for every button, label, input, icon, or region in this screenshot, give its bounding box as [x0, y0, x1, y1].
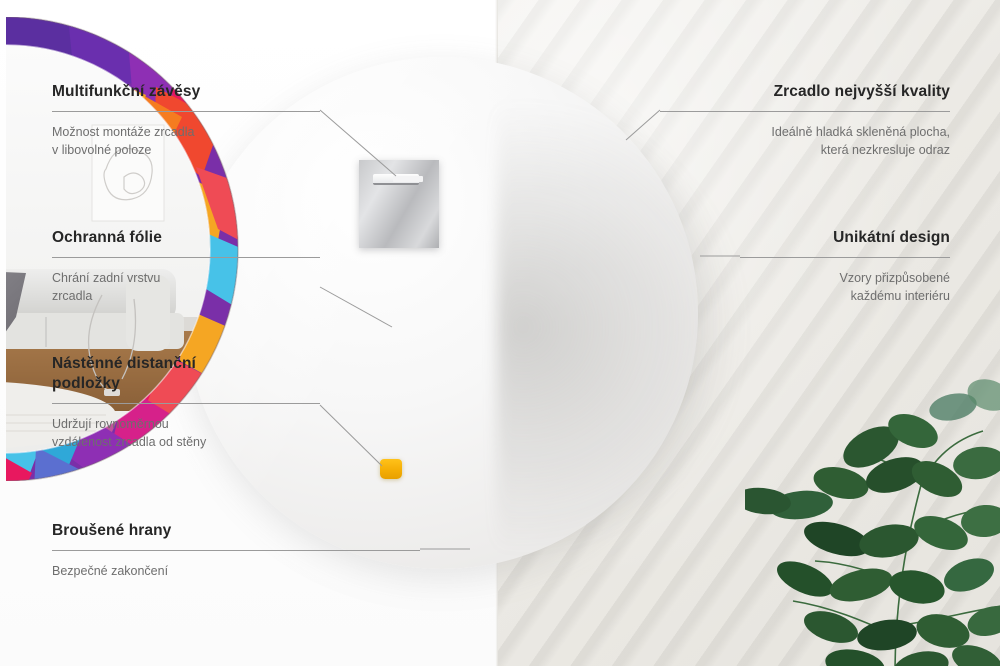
foliage-decoration — [745, 335, 1000, 666]
feature-title: Broušené hrany — [52, 521, 420, 541]
hanger-slot-inner — [393, 176, 423, 182]
hanger-plate — [359, 160, 439, 248]
feature-block-ochranna-folie: Ochranná fólie Chrání zadní vrstvu zrcad… — [52, 228, 320, 305]
feature-desc-line-2: která nezkresluje odraz — [821, 143, 950, 157]
infographic-canvas: Multifunkční závěsy Možnost montáže zrca… — [0, 0, 1000, 666]
feature-title: Nástěnné distanční podložky — [52, 354, 320, 394]
feature-block-brousene-hrany: Broušené hrany Bezpečné zakončení — [52, 521, 420, 580]
feature-description: Udržují rovnoměrnou vzdálenost zrcadla o… — [52, 415, 320, 451]
feature-rule — [660, 111, 950, 112]
mirror-drop-shadow — [497, 92, 757, 562]
feature-description: Chrání zadní vrstvu zrcadla — [52, 269, 320, 305]
feature-desc-line-1: Vzory přizpůsobené — [840, 271, 950, 285]
feature-desc-line-2: každému interiéru — [851, 289, 950, 303]
feature-title-line-1: Nástěnné distanční — [52, 355, 196, 372]
feature-title-line-2: podložky — [52, 375, 120, 392]
feature-description: Vzory přizpůsobené každému interiéru — [740, 269, 950, 305]
feature-rule — [52, 403, 320, 404]
feature-desc-line-2: v libovolné poloze — [52, 143, 151, 157]
feature-title: Ochranná fólie — [52, 228, 320, 248]
feature-desc-line-1: Možnost montáže zrcadla — [52, 125, 194, 139]
feature-description: Bezpečné zakončení — [52, 562, 420, 580]
feature-title: Zrcadlo nejvyšší kvality — [660, 82, 950, 102]
feature-block-unikatni-design: Unikátní design Vzory přizpůsobené každé… — [740, 228, 950, 305]
feature-block-zrcadlo-nejvyssi-kvality: Zrcadlo nejvyšší kvality Ideálně hladká … — [660, 82, 950, 159]
feature-desc-line-2: zrcadla — [52, 289, 92, 303]
feature-title: Unikátní design — [740, 228, 950, 248]
feature-description: Možnost montáže zrcadla v libovolné polo… — [52, 123, 320, 159]
feature-title: Multifunkční závěsy — [52, 82, 320, 102]
feature-block-multifunkcni-zavesy: Multifunkční závěsy Možnost montáže zrca… — [52, 82, 320, 159]
leaf-group — [745, 374, 1000, 666]
feature-desc-line-2: vzdálenost zrcadla od stěny — [52, 435, 206, 449]
feature-desc-line-1: Udržují rovnoměrnou — [52, 417, 169, 431]
feature-block-nastenne-distancni-podlozky: Nástěnné distanční podložky Udržují rovn… — [52, 354, 320, 452]
feature-desc-line-1: Ideálně hladká skleněná plocha, — [771, 125, 950, 139]
feature-rule — [740, 257, 950, 258]
feature-rule — [52, 111, 320, 112]
feature-description: Ideálně hladká skleněná plocha, která ne… — [660, 123, 950, 159]
feature-desc-line-1: Chrání zadní vrstvu — [52, 271, 160, 285]
yellow-spacer-pad — [380, 459, 402, 479]
feature-rule — [52, 550, 420, 551]
feature-rule — [52, 257, 320, 258]
